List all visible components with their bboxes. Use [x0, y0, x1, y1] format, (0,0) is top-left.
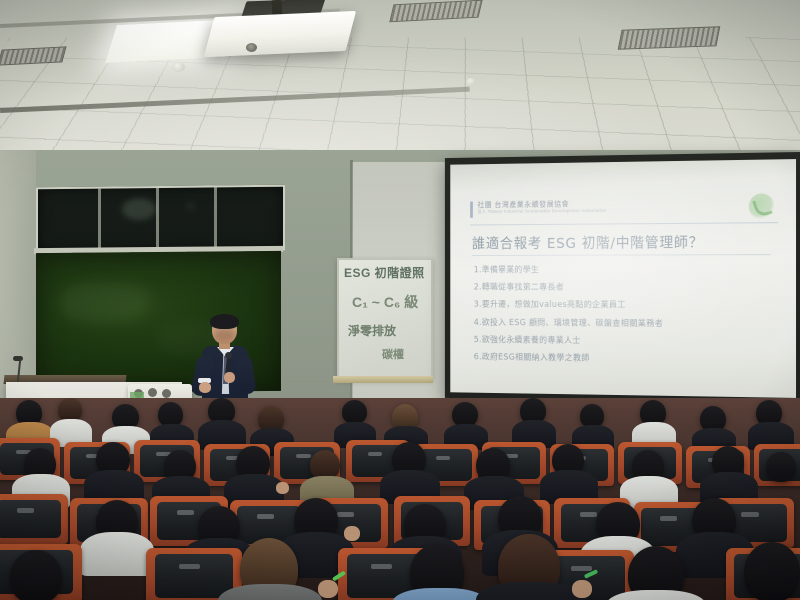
- window-mullion: [214, 187, 217, 249]
- slide-title: 誰適合報考 ESG 初階/中階管理師？: [472, 231, 782, 253]
- slide-bullet: 5.欲強化永續素養的專業人士: [474, 333, 782, 347]
- window-band: [36, 185, 285, 254]
- console-knob-icon: [162, 389, 171, 398]
- slide-bullet: 6.政府ESG相關納入教學之教師: [474, 351, 782, 366]
- slide-surface: 社團 台灣產業永續發展協會 法人 Taiwan Industrial Susta…: [450, 159, 796, 398]
- whiteboard-handwriting-line-1: ESG 初階證照: [344, 264, 425, 281]
- whiteboard-handwriting-line-4: 碳權: [382, 346, 404, 362]
- audience-hand: [276, 482, 289, 494]
- audience-shoulders: [80, 532, 154, 576]
- slide-bullet: 3.要升遷，想做加values亮點的企業員工: [474, 298, 782, 311]
- slide-org-subtitle: 法人 Taiwan Industrial Sustainable Develop…: [477, 208, 606, 215]
- ceiling: [0, 0, 800, 172]
- air-vent-icon: [618, 26, 721, 49]
- window-mullion: [156, 188, 159, 250]
- microphone-head-icon: [225, 352, 232, 359]
- audience-head: [10, 550, 62, 600]
- smoke-detector-icon: [466, 78, 476, 86]
- window-reflection: [186, 202, 195, 211]
- projector: [204, 11, 356, 57]
- window-reflection: [122, 198, 156, 220]
- lecture-hall-photo: ESG 初階證照 C₁ ~ C₆ 級 淨零排放 碳權 社團 台灣產業永續發展協會…: [0, 0, 800, 600]
- slide-bullet: 4.欲投入 ESG 顧問、環境管理、碳盤查相關業務者: [474, 316, 782, 330]
- auditorium-seat: [0, 494, 68, 544]
- slide-bullet: 1.準備畢業的學生: [474, 263, 782, 275]
- microphone-icon: [13, 356, 23, 361]
- audience-head: [342, 400, 367, 424]
- chalk-smudge: [60, 282, 150, 323]
- projector-lens-icon: [246, 43, 257, 52]
- presenter-face: [215, 329, 234, 340]
- whiteboard-handwriting-line-2: C₁ ~ C₆ 級: [352, 292, 418, 312]
- slide-bullet-list: 1.準備畢業的學生 2.轉職從事找第二專長者 3.要升遷，想做加values亮點…: [474, 263, 782, 372]
- presenter-left-hand: [199, 382, 211, 393]
- audience-hand: [572, 580, 592, 598]
- slide-header: 社團 台灣產業永續發展協會 法人 Taiwan Industrial Susta…: [470, 197, 778, 223]
- whiteboard-marker-tray: [333, 376, 433, 383]
- console-knob-icon: [148, 388, 157, 397]
- audience-head: [766, 452, 796, 482]
- presenter-hair: [210, 314, 239, 329]
- projection-screen: 社團 台灣產業永續發展協會 法人 Taiwan Industrial Susta…: [445, 152, 800, 404]
- slide-bullet: 2.轉職從事找第二專長者: [474, 281, 782, 293]
- slide-header-accent-bar: [470, 202, 473, 218]
- smoke-detector-icon: [172, 62, 185, 72]
- leaf-logo-icon: [749, 193, 775, 219]
- presenter-right-hand: [224, 372, 235, 383]
- window-mullion: [98, 189, 101, 251]
- whiteboard-handwriting-line-3: 淨零排放: [348, 322, 396, 339]
- audience-hand: [344, 526, 360, 541]
- audience-head: [744, 542, 800, 600]
- audience-hand: [318, 580, 338, 598]
- audience-area: [0, 398, 800, 600]
- slide-title-underline: [472, 254, 770, 256]
